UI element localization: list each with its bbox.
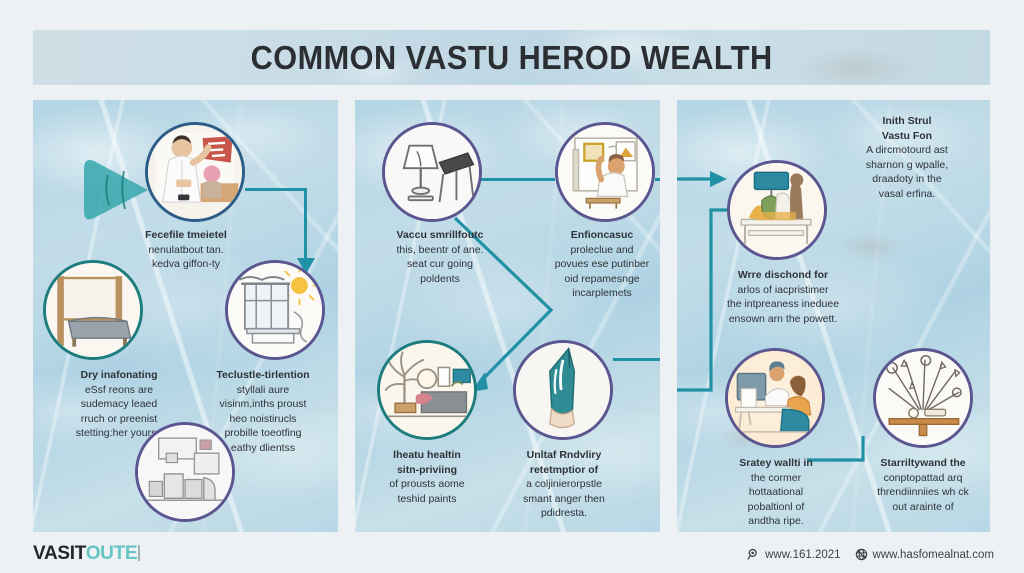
location-pin-icon	[747, 548, 760, 561]
caption-line: Teclustle-tirlention	[183, 368, 338, 383]
caption-line: conptopattad arq	[857, 471, 989, 486]
caption-line: out arainte of	[857, 500, 989, 515]
footer-meta: www.161.2021 www.hasfomealnat.com	[747, 548, 994, 561]
brand-logo[interactable]: VASITOUTE	[33, 543, 140, 565]
prosperity-burst-icon	[876, 351, 970, 445]
node-water-feature[interactable]	[513, 340, 613, 440]
footer: VASITOUTE www.161.2021 www.hasfomealnat.…	[0, 532, 1024, 573]
caption-line: visinm,inths proust	[183, 397, 338, 412]
caption-line: Fecefile tmeietel	[81, 228, 291, 243]
footer-site-text: www.161.2021	[765, 549, 840, 561]
panel-left: Fecefile tmeietel nenulatbout tan. kedva…	[33, 100, 338, 532]
lamp-table-icon	[385, 125, 479, 219]
caption-line: Sratey wallti in	[717, 456, 835, 471]
caption-line: incarplemets	[537, 286, 660, 301]
node-lamp-table[interactable]	[382, 122, 482, 222]
bed-furniture-icon	[46, 263, 140, 357]
caption-line: threndiinniies wh ck	[857, 485, 989, 500]
connector-water-to-right	[613, 358, 660, 361]
caption-line: Vaccu smrillfoutc	[365, 228, 515, 243]
water-flow-icon	[516, 343, 610, 437]
pointer-arrow-icon	[78, 155, 156, 225]
caption-line: teshid paints	[361, 492, 493, 507]
heading-line: vasal erfina.	[827, 187, 987, 202]
heading-line: A dircmotourd ast	[827, 143, 987, 158]
caption-line: heo noistirucls	[183, 412, 338, 427]
arrowhead-right-icon	[677, 166, 737, 192]
node-bed-furniture[interactable]	[43, 260, 143, 360]
caption-water-feature: Unltaf Rndvliry retetmptior of a coljini…	[489, 448, 639, 521]
caption-plant-interior: lheatu healtin sitn-priviing of prousts …	[361, 448, 493, 506]
caption-line: smant anger then	[489, 492, 639, 507]
caption-line: arlos of iacpristimer	[687, 283, 879, 298]
panel-right: Inith Strul Vastu Fon A dircmotourd ast …	[677, 100, 990, 532]
caption-line: styllali aure	[183, 383, 338, 398]
desk-workspace-icon	[728, 351, 822, 445]
footer-website-group[interactable]: www.hasfomealnat.com	[855, 548, 994, 561]
caption-line: Enfioncasuc	[537, 228, 660, 243]
caption-line: of prousts aome	[361, 477, 493, 492]
connector-consultant-down	[304, 188, 307, 260]
infographic-root: COMMON VASTU HEROD WEALTH	[0, 0, 1024, 573]
footer-site-group[interactable]: www.161.2021	[747, 548, 840, 561]
heading-line: sharnon g wpalle,	[827, 158, 987, 173]
caption-line: eSsf reons are	[39, 383, 199, 398]
caption-line: proleclue and	[537, 243, 660, 258]
page-title: COMMON VASTU HEROD WEALTH	[33, 39, 990, 77]
logo-part-1: VASIT	[33, 543, 86, 564]
caption-line: hottaational	[717, 485, 835, 500]
caption-line: sitn-priviing	[361, 463, 493, 478]
node-consultant[interactable]	[145, 122, 245, 222]
logo-cursor-bar	[138, 545, 140, 561]
caption-line: Dry inafonating	[39, 368, 199, 383]
caption-line: the cormer	[717, 471, 835, 486]
header-band: COMMON VASTU HEROD WEALTH	[33, 30, 990, 85]
connector-consultant-right	[245, 188, 307, 191]
caption-line: this, beentr of ane.	[365, 243, 515, 258]
caption-dining-table-scene: Wrre dischond for arlos of iacpristimer …	[687, 268, 879, 326]
caption-desk-workspace: Sratey wallti in the cormer hottaational…	[717, 456, 835, 529]
caption-line: andtha ripe.	[717, 514, 835, 529]
node-person-wall-art[interactable]	[555, 122, 655, 222]
caption-line: retetmptior of	[489, 463, 639, 478]
person-presenting-icon	[148, 125, 242, 219]
caption-line: the intpreaness ineduee	[687, 297, 879, 312]
right-heading: Inith Strul Vastu Fon A dircmotourd ast …	[827, 114, 987, 201]
connector-person-to-right	[655, 178, 660, 181]
heading-line: Vastu Fon	[827, 129, 987, 144]
node-plant-interior[interactable]	[377, 340, 477, 440]
caption-line: poldents	[365, 272, 515, 287]
page-title-text: COMMON VASTU HEROD WEALTH	[251, 39, 773, 77]
logo-part-2: OUTE	[86, 543, 138, 564]
panel-mid: Vaccu smrillfoutc this, beentr of ane. s…	[355, 100, 660, 532]
dining-table-icon	[730, 163, 824, 257]
caption-person-wall-art: Enfioncasuc proleclue and povues ese put…	[537, 228, 660, 301]
caption-line: sudemacy leaed	[39, 397, 199, 412]
node-desk-workspace[interactable]	[725, 348, 825, 448]
plant-interior-icon	[380, 343, 474, 437]
person-hanging-art-icon	[558, 125, 652, 219]
caption-lamp-table: Vaccu smrillfoutc this, beentr of ane. s…	[365, 228, 515, 286]
heading-line: Inith Strul	[827, 114, 987, 129]
caption-line: pobaltionl of	[717, 500, 835, 515]
node-prosperity-burst[interactable]	[873, 348, 973, 448]
caption-line: pdidresta.	[489, 506, 639, 521]
globe-icon	[855, 548, 868, 561]
heading-line: draadoty in the	[827, 172, 987, 187]
window-sun-icon	[228, 263, 322, 357]
caption-line: Wrre dischond for	[687, 268, 879, 283]
living-room-icon	[138, 425, 232, 519]
caption-line: oid repamesnge	[537, 272, 660, 287]
caption-line: Unltaf Rndvliry	[489, 448, 639, 463]
caption-prosperity-burst: Starriltywand the conptopattad arq thren…	[857, 456, 989, 514]
caption-line: nenulatbout tan.	[81, 243, 291, 258]
caption-line: ensown arn the powett.	[687, 312, 879, 327]
node-window-sunlight[interactable]	[225, 260, 325, 360]
node-dining-table-scene[interactable]	[727, 160, 827, 260]
caption-line: lheatu healtin	[361, 448, 493, 463]
node-living-room-clutter[interactable]	[135, 422, 235, 522]
caption-line: a coljinierorpstle	[489, 477, 639, 492]
caption-line: Starriltywand the	[857, 456, 989, 471]
footer-website-text: www.hasfomealnat.com	[873, 549, 994, 561]
caption-line: seat cur going	[365, 257, 515, 272]
caption-line: povues ese putinber	[537, 257, 660, 272]
